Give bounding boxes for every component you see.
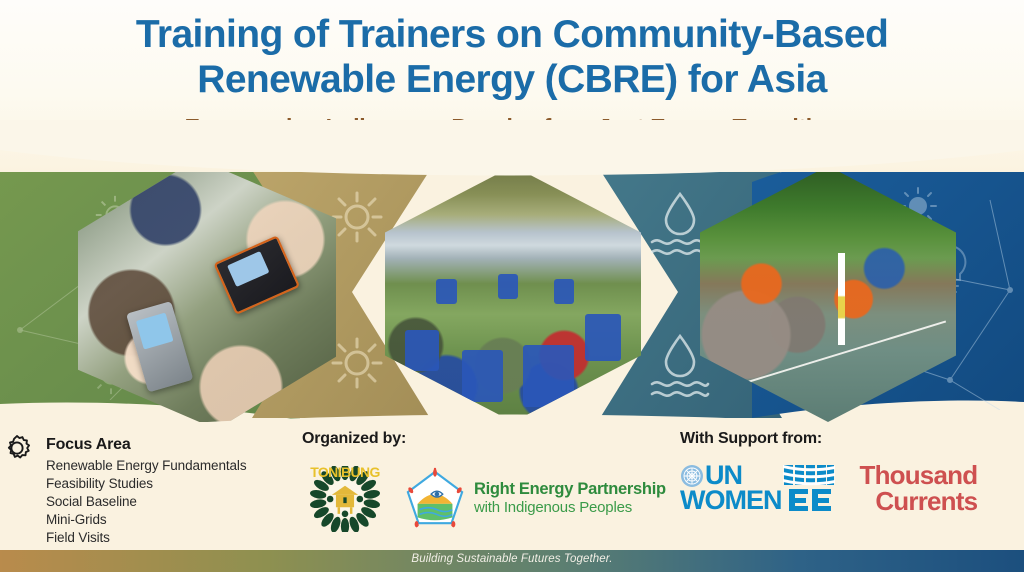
tonibung-wordmark: TONIBUNG	[302, 464, 388, 480]
list-item: Field Visits	[46, 529, 246, 547]
list-item: Social Baseline	[46, 493, 246, 511]
stream-measurement-photo	[700, 166, 956, 422]
gear-icon	[2, 433, 32, 463]
organized-by-heading: Organized by:	[302, 430, 666, 448]
rep-wordmark: Right Energy Partnership with Indigenous…	[474, 480, 666, 517]
support-heading: With Support from:	[680, 430, 977, 448]
right-energy-partnership-logo: Right Energy Partnership with Indigenous…	[404, 467, 666, 529]
list-item: Mini-Grids	[46, 511, 246, 529]
event-dates: 12 - 24 January 2026	[0, 146, 1024, 163]
rep-line-2: with Indigenous Peoples	[474, 499, 666, 517]
thousand-currents-logo: Thousand Currents	[859, 462, 977, 514]
list-item: Feasibility Studies	[46, 475, 246, 493]
gps-survey-photo	[78, 166, 336, 422]
thousand-currents-line-2: Currents	[859, 488, 977, 514]
focus-area-heading: Focus Area	[46, 436, 246, 454]
un-women-logo: UN WOMEN	[680, 463, 835, 513]
poster: Training of Trainers on Community-Based …	[0, 0, 1024, 572]
focus-area-title: Focus Area	[46, 436, 131, 454]
organizer-logos: TONIBUNG	[302, 462, 666, 534]
poster-header: Training of Trainers on Community-Based …	[0, 0, 1024, 172]
footer-strip: Building Sustainable Futures Together.	[0, 550, 1024, 572]
supporter-logos: UN WOMEN	[680, 462, 977, 514]
organized-by-block: Organized by:	[302, 430, 666, 534]
un-women-symbol-icon	[783, 464, 835, 512]
poster-subtitle: Empowering Indigenous Peoples for a Just…	[0, 114, 1024, 141]
tonibung-logo: TONIBUNG	[302, 462, 388, 534]
rep-line-1: Right Energy Partnership	[474, 480, 666, 499]
thousand-currents-line-1: Thousand	[859, 462, 977, 488]
un-women-line-2: WOMEN	[680, 488, 781, 513]
community-meeting-photo	[385, 166, 641, 422]
focus-area-list: Renewable Energy Fundamentals Feasibilit…	[46, 457, 246, 547]
footer-tagline: Building Sustainable Futures Together.	[0, 553, 1024, 565]
support-block: With Support from: UN	[680, 430, 977, 514]
rep-emblem-icon	[404, 467, 466, 529]
poster-footer-panel: Focus Area Renewable Energy Fundamentals…	[0, 412, 1024, 572]
focus-area-block: Focus Area Renewable Energy Fundamentals…	[46, 436, 246, 547]
list-item: Renewable Energy Fundamentals	[46, 457, 246, 475]
un-emblem-icon	[680, 464, 704, 488]
page-title: Training of Trainers on Community-Based …	[0, 12, 1024, 102]
